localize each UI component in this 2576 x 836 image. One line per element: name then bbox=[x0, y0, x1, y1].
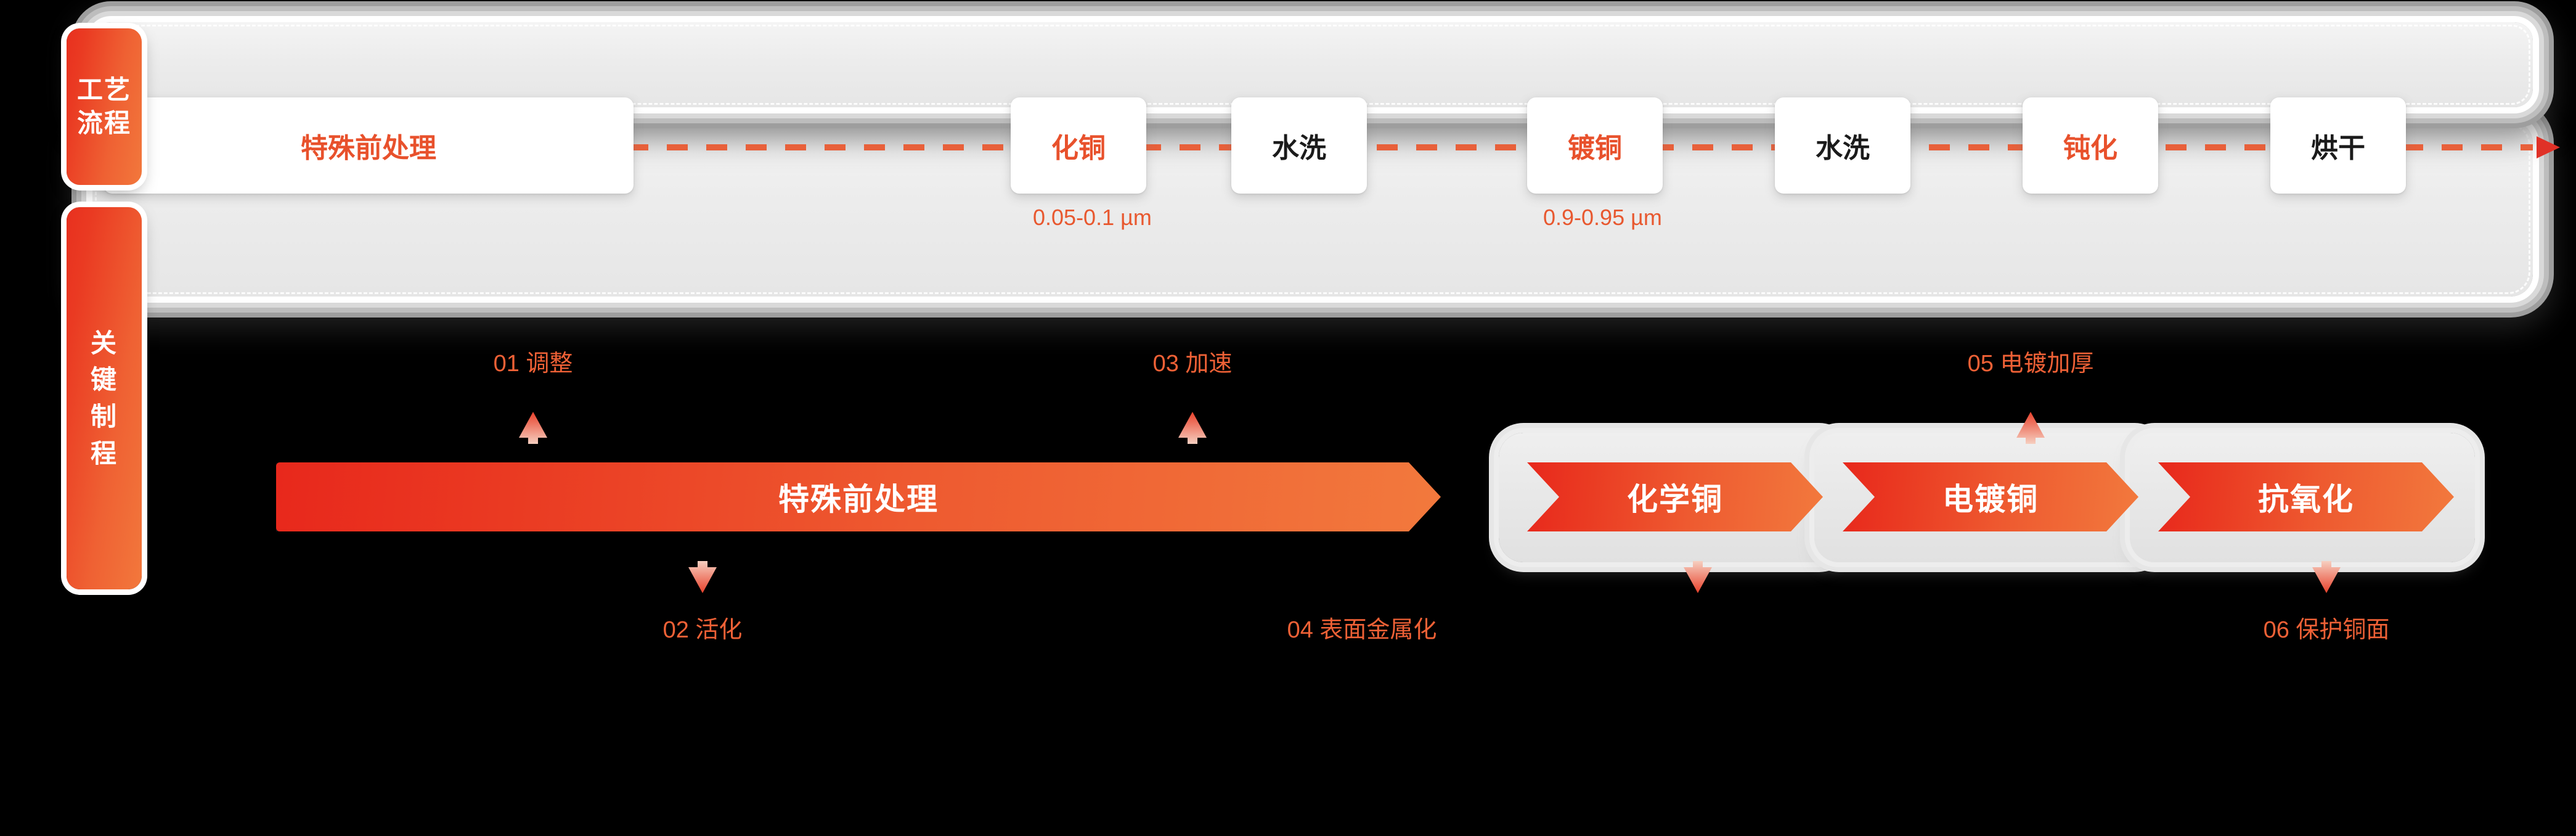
key-stage-label: 抗氧化 bbox=[2258, 475, 2354, 519]
side-tab-key-process-label: 关 键 制 程 bbox=[91, 325, 118, 472]
arrow-down-icon bbox=[1684, 561, 1712, 593]
key-stage-chevron[interactable]: 抗氧化 bbox=[2158, 462, 2454, 531]
process-flow-panel bbox=[92, 22, 2533, 107]
key-stage-chevron[interactable]: 电镀铜 bbox=[1843, 462, 2138, 531]
process-step-card[interactable]: 烘干 bbox=[2270, 97, 2406, 194]
process-step-note: 0.05-0.1 µm bbox=[1033, 205, 1152, 231]
process-step-card[interactable]: 水洗 bbox=[1775, 97, 1910, 194]
arrow-right-icon bbox=[2537, 136, 2560, 158]
arrow-down-icon bbox=[2312, 561, 2341, 593]
key-stage-chevron[interactable]: 化学铜 bbox=[1527, 462, 1823, 531]
process-step-label: 水洗 bbox=[1272, 126, 1326, 165]
process-step-card[interactable]: 镀铜 bbox=[1527, 97, 1663, 194]
arrow-up-icon bbox=[2016, 412, 2045, 444]
process-step-label: 烘干 bbox=[2311, 126, 2365, 165]
key-marker-label: 06 保护铜面 bbox=[2264, 610, 2390, 644]
arrow-down-icon bbox=[688, 561, 717, 593]
process-step-card[interactable]: 化铜 bbox=[1011, 97, 1146, 194]
diagram-stage: 工艺 流程 关 键 制 程 特殊前处理 化铜 0.05-0.1 µm 水洗 镀铜… bbox=[0, 0, 2576, 836]
process-step-card[interactable]: 水洗 bbox=[1231, 97, 1367, 194]
arrow-up-icon bbox=[519, 412, 547, 444]
key-stage-label: 电镀铜 bbox=[1942, 475, 2039, 519]
key-stage-label: 化学铜 bbox=[1627, 475, 1723, 519]
key-marker-label: 05 电镀加厚 bbox=[1968, 344, 2094, 378]
process-step-card[interactable]: 特殊前处理 bbox=[104, 97, 634, 194]
process-step-label: 化铜 bbox=[1051, 126, 1106, 165]
process-step-label: 水洗 bbox=[1816, 126, 1870, 165]
arrow-up-icon bbox=[1178, 412, 1207, 444]
side-tab-key-process[interactable]: 关 键 制 程 bbox=[67, 207, 142, 589]
process-step-card[interactable]: 钝化 bbox=[2023, 97, 2158, 194]
key-stage-label: 特殊前处理 bbox=[778, 475, 939, 519]
key-marker-label: 02 活化 bbox=[663, 610, 743, 644]
process-step-label: 特殊前处理 bbox=[301, 126, 436, 165]
key-marker-label: 04 表面金属化 bbox=[1287, 610, 1437, 644]
process-step-label: 钝化 bbox=[2063, 126, 2117, 165]
side-tab-process-flow[interactable]: 工艺 流程 bbox=[67, 28, 142, 185]
process-step-note: 0.9-0.95 µm bbox=[1543, 205, 1662, 231]
key-stage-banner[interactable]: 特殊前处理 bbox=[276, 462, 1441, 531]
side-tab-process-flow-label: 工艺 流程 bbox=[77, 73, 131, 140]
key-marker-label: 03 加速 bbox=[1153, 344, 1233, 378]
process-step-label: 镀铜 bbox=[1568, 126, 1622, 165]
key-marker-label: 01 调整 bbox=[494, 344, 573, 378]
